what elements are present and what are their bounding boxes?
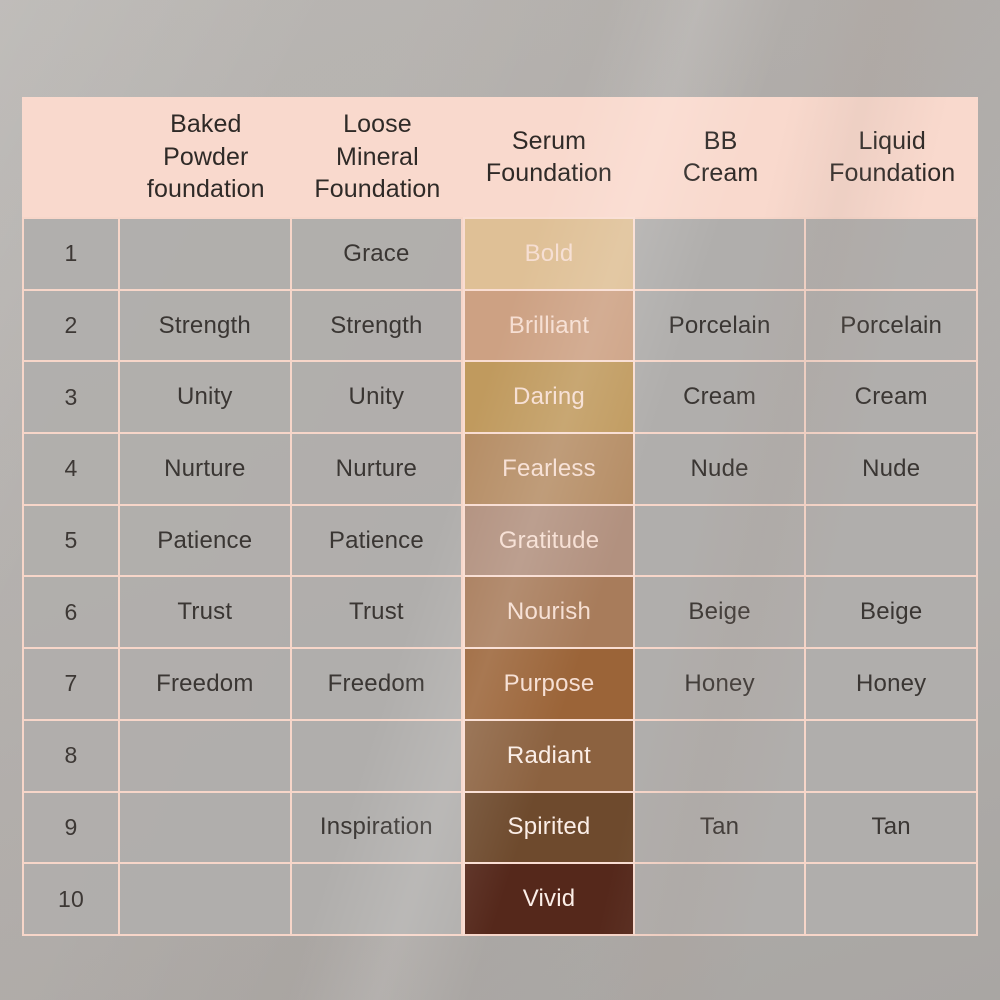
column-header-line: Powder (120, 141, 292, 174)
column-header-line: Loose (292, 108, 464, 141)
shade-name-cell-bb_cream: Honey (635, 647, 807, 719)
page-canvas: BakedPowderfoundation LooseMineralFounda… (0, 0, 1000, 1000)
shade-name-cell-liquid: Beige (806, 575, 978, 647)
shade-swatch-cell-serum: Gratitude (463, 504, 635, 576)
shade-name-cell-loose_mineral: Grace (292, 217, 464, 289)
foundation-shade-comparison-table: BakedPowderfoundation LooseMineralFounda… (22, 97, 978, 936)
column-header-line: Foundation (806, 157, 978, 190)
shade-name-cell-liquid: Honey (806, 647, 978, 719)
shade-swatch-cell-serum: Daring (463, 360, 635, 432)
shade-name-cell-bb_cream (635, 719, 807, 791)
table-row: 3UnityUnityDaringCreamCream (22, 360, 978, 432)
column-header-bb-cream: BBCream (635, 97, 807, 217)
row-index-cell: 3 (22, 360, 120, 432)
shade-name-cell-bb_cream: Porcelain (635, 289, 807, 361)
shade-name-cell-baked_powder (120, 862, 292, 936)
table-row: 4NurtureNurtureFearlessNudeNude (22, 432, 978, 504)
column-header-liquid-foundation: LiquidFoundation (806, 97, 978, 217)
shade-name-cell-loose_mineral: Freedom (292, 647, 464, 719)
column-header-line: Cream (635, 157, 807, 190)
shade-name-cell-loose_mineral: Patience (292, 504, 464, 576)
row-index-cell: 1 (22, 217, 120, 289)
shade-name-cell-liquid: Porcelain (806, 289, 978, 361)
shade-name-cell-loose_mineral: Unity (292, 360, 464, 432)
shade-name-cell-loose_mineral: Trust (292, 575, 464, 647)
shade-name-cell-baked_powder (120, 217, 292, 289)
shade-name-cell-liquid: Cream (806, 360, 978, 432)
shade-name-cell-baked_powder: Nurture (120, 432, 292, 504)
shade-swatch-cell-serum: Brilliant (463, 289, 635, 361)
row-index-cell: 5 (22, 504, 120, 576)
table-row: 2StrengthStrengthBrilliantPorcelainPorce… (22, 289, 978, 361)
shade-name-cell-liquid (806, 504, 978, 576)
column-header-loose-mineral-foundation: LooseMineralFoundation (292, 97, 464, 217)
column-header-line: Liquid (806, 125, 978, 158)
table-body: 1GraceBold2StrengthStrengthBrilliantPorc… (22, 217, 978, 936)
column-header-line: Serum (463, 125, 635, 158)
shade-swatch-cell-serum: Bold (463, 217, 635, 289)
shade-name-cell-baked_powder: Unity (120, 360, 292, 432)
shade-name-cell-bb_cream: Nude (635, 432, 807, 504)
column-header-baked-powder-foundation: BakedPowderfoundation (120, 97, 292, 217)
shade-name-cell-liquid: Nude (806, 432, 978, 504)
column-header-line: Baked (120, 108, 292, 141)
shade-name-cell-liquid (806, 217, 978, 289)
table-row: 7FreedomFreedomPurposeHoneyHoney (22, 647, 978, 719)
table-row: 5PatiencePatienceGratitude (22, 504, 978, 576)
column-header-line: Mineral (292, 141, 464, 174)
shade-swatch-cell-serum: Spirited (463, 791, 635, 863)
row-index-cell: 8 (22, 719, 120, 791)
row-index-cell: 4 (22, 432, 120, 504)
shade-name-cell-bb_cream: Beige (635, 575, 807, 647)
shade-swatch-cell-serum: Fearless (463, 432, 635, 504)
shade-name-cell-liquid: Tan (806, 791, 978, 863)
column-header-line: BB (635, 125, 807, 158)
column-header-line: Foundation (292, 173, 464, 206)
shade-swatch-cell-serum: Radiant (463, 719, 635, 791)
shade-name-cell-loose_mineral: Inspiration (292, 791, 464, 863)
shade-name-cell-bb_cream (635, 217, 807, 289)
column-header-serum-foundation: SerumFoundation (463, 97, 635, 217)
table-row: 1GraceBold (22, 217, 978, 289)
table-row: 6TrustTrustNourishBeigeBeige (22, 575, 978, 647)
shade-name-cell-liquid (806, 862, 978, 936)
shade-name-cell-loose_mineral: Strength (292, 289, 464, 361)
table-row: 9InspirationSpiritedTanTan (22, 791, 978, 863)
table-row: 10Vivid (22, 862, 978, 936)
shade-name-cell-bb_cream (635, 504, 807, 576)
shade-swatch-cell-serum: Nourish (463, 575, 635, 647)
column-header-index (22, 97, 120, 217)
shade-name-cell-baked_powder: Patience (120, 504, 292, 576)
column-header-line: Foundation (463, 157, 635, 190)
shade-name-cell-baked_powder: Strength (120, 289, 292, 361)
shade-comparison-table-container: BakedPowderfoundation LooseMineralFounda… (22, 97, 978, 936)
shade-swatch-cell-serum: Vivid (463, 862, 635, 936)
shade-name-cell-baked_powder: Freedom (120, 647, 292, 719)
column-header-line: foundation (120, 173, 292, 206)
shade-name-cell-bb_cream (635, 862, 807, 936)
shade-name-cell-loose_mineral (292, 719, 464, 791)
table-row: 8Radiant (22, 719, 978, 791)
shade-name-cell-loose_mineral: Nurture (292, 432, 464, 504)
row-index-cell: 6 (22, 575, 120, 647)
table-header: BakedPowderfoundation LooseMineralFounda… (22, 97, 978, 217)
shade-name-cell-baked_powder (120, 791, 292, 863)
shade-swatch-cell-serum: Purpose (463, 647, 635, 719)
header-row: BakedPowderfoundation LooseMineralFounda… (22, 97, 978, 217)
shade-name-cell-baked_powder (120, 719, 292, 791)
row-index-cell: 2 (22, 289, 120, 361)
shade-name-cell-bb_cream: Tan (635, 791, 807, 863)
shade-name-cell-baked_powder: Trust (120, 575, 292, 647)
shade-name-cell-liquid (806, 719, 978, 791)
row-index-cell: 9 (22, 791, 120, 863)
shade-name-cell-bb_cream: Cream (635, 360, 807, 432)
shade-name-cell-loose_mineral (292, 862, 464, 936)
row-index-cell: 7 (22, 647, 120, 719)
row-index-cell: 10 (22, 862, 120, 936)
